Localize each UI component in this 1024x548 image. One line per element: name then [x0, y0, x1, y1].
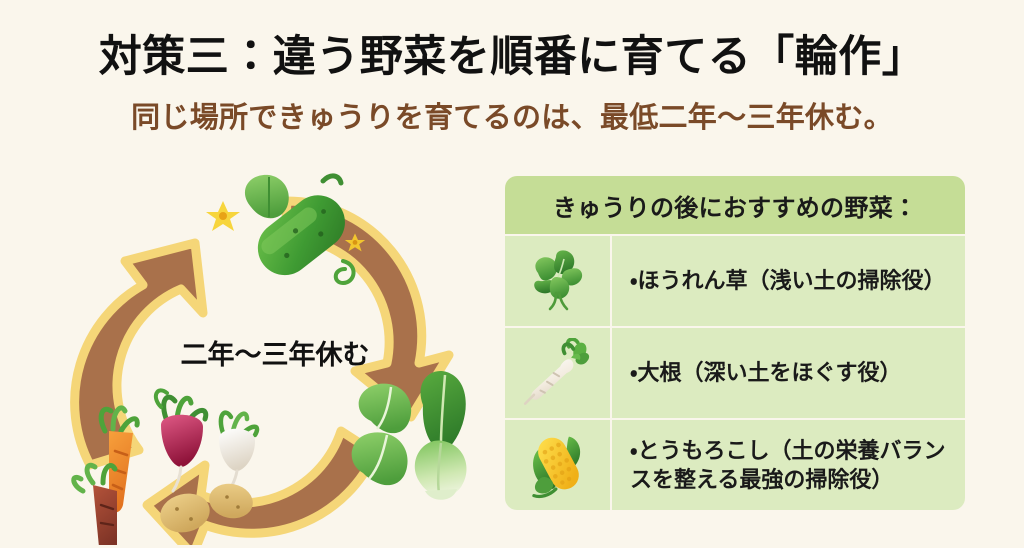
row-text-cell: ・大根（深い土をほぐす役） — [612, 328, 965, 418]
page-title: 対策三：違う野菜を順番に育てる「輪作」 — [0, 22, 1024, 84]
corn-icon — [523, 430, 593, 500]
crop-rotation-cycle-diagram: 二年〜三年休む — [55, 165, 495, 545]
infographic-canvas: 対策三：違う野菜を順番に育てる「輪作」 同じ場所できゅうりを育てるのは、最低二年… — [0, 0, 1024, 548]
panel-header: きゅうりの後におすすめの野菜： — [505, 176, 965, 234]
list-item-label: ・とうもろこし（土の栄養バランスを整える最強の掃除役） — [630, 436, 951, 494]
row-icon-cell — [505, 236, 612, 326]
recommended-vegetables-panel: きゅうりの後におすすめの野菜： — [505, 176, 965, 510]
row-icon-cell — [505, 328, 612, 418]
panel-header-label: きゅうりの後におすすめの野菜： — [553, 188, 918, 223]
daikon-radish-icon — [523, 338, 593, 408]
row-text-cell: ・とうもろこし（土の栄養バランスを整える最強の掃除役） — [612, 420, 965, 510]
list-item-label: ・大根（深い土をほぐす役） — [630, 358, 901, 387]
cucumber-flower — [206, 201, 240, 231]
list-item: ・ほうれん草（浅い土の掃除役） — [505, 234, 965, 326]
page-subtitle: 同じ場所できゅうりを育てるのは、最低二年〜三年休む。 — [0, 94, 1024, 136]
row-icon-cell — [505, 420, 612, 510]
row-text-cell: ・ほうれん草（浅い土の掃除役） — [612, 236, 965, 326]
list-item: ・とうもろこし（土の栄養バランスを整える最強の掃除役） — [505, 418, 965, 510]
cucumber-illustration — [206, 175, 365, 286]
spinach-icon — [526, 249, 590, 313]
list-item-label: ・ほうれん草（浅い土の掃除役） — [630, 266, 945, 295]
list-item: ・大根（深い土をほぐす役） — [505, 326, 965, 418]
panel-body: ・ほうれん草（浅い土の掃除役） — [505, 234, 965, 510]
